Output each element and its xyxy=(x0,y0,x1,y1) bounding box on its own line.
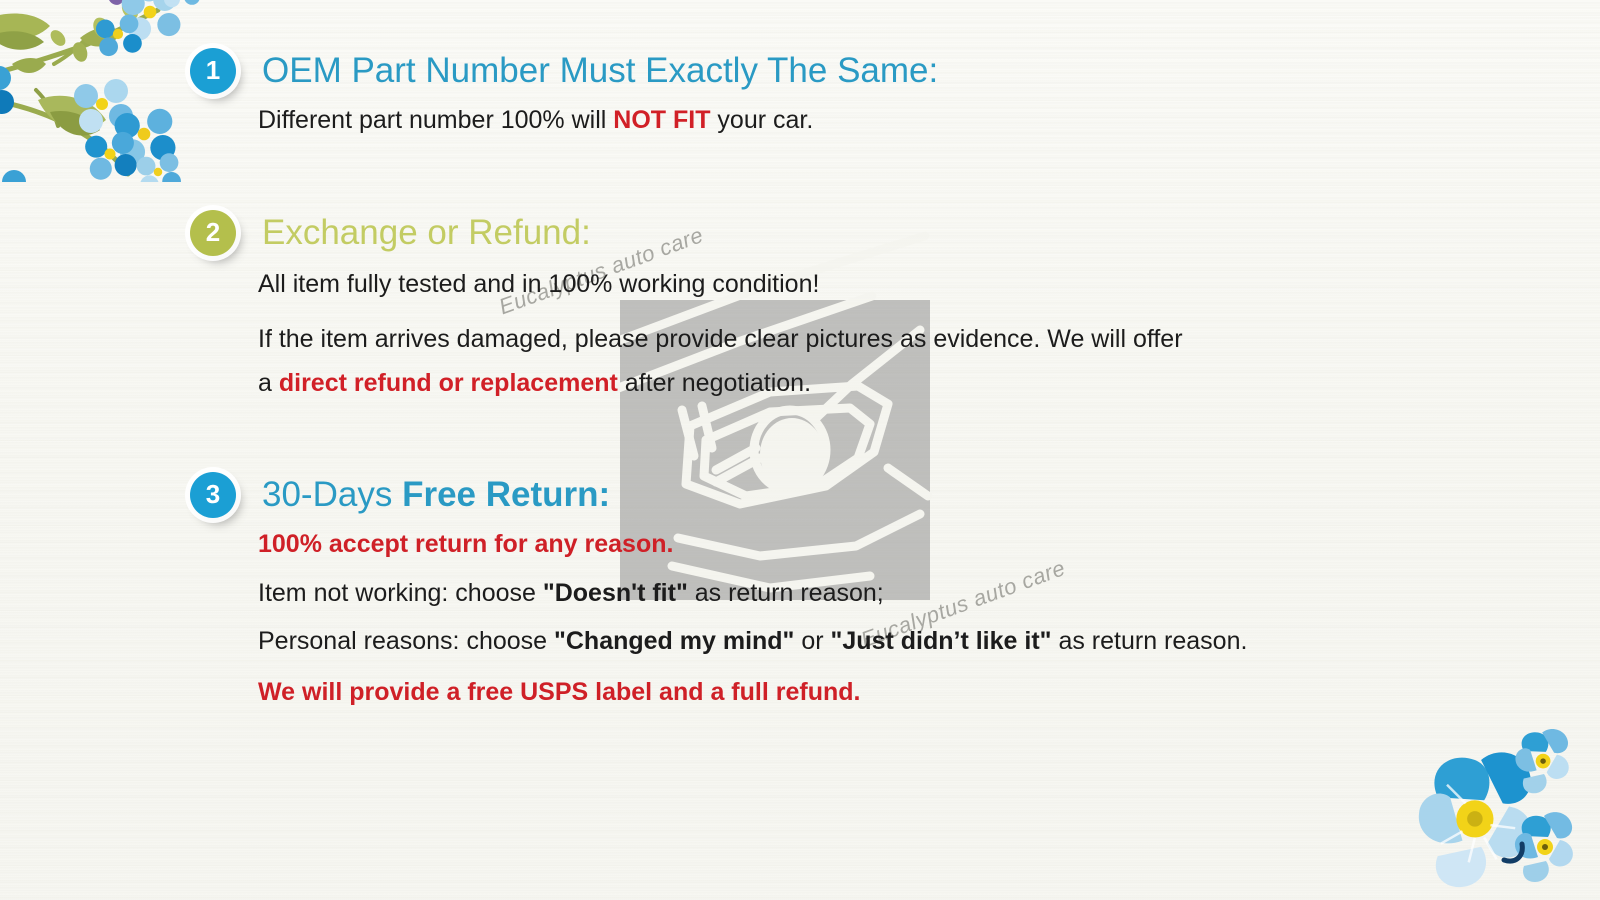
section-2-line-2: If the item arrives damaged, please prov… xyxy=(258,321,1388,358)
s1-text-c: your car. xyxy=(710,106,813,134)
section-3-heading: 30-Days Free Return: xyxy=(262,477,610,514)
section-3-line-4: We will provide a free USPS label and a … xyxy=(258,674,1450,711)
section-3-heading-plain: 30-Days xyxy=(262,475,402,514)
section-1-header: 1 OEM Part Number Must Exactly The Same: xyxy=(190,42,1450,100)
section-2-line-1: All item fully tested and in 100% workin… xyxy=(258,266,1450,303)
section-1-heading: OEM Part Number Must Exactly The Same: xyxy=(262,53,938,90)
s2-refund-emphasis: direct refund or replacement xyxy=(279,369,618,397)
s1-not-fit: NOT FIT xyxy=(613,106,710,134)
section-3-line-2: Item not working: choose "Doesn't fit" a… xyxy=(258,575,1450,612)
step-badge-3-number: 3 xyxy=(206,481,220,507)
s3-l3-e: as return reason. xyxy=(1052,627,1248,655)
s3-l2-c: as return reason; xyxy=(688,579,884,607)
step-badge-2: 2 xyxy=(190,210,236,256)
s3-l3-c: or xyxy=(794,627,830,655)
section-2-heading: Exchange or Refund: xyxy=(262,215,591,252)
s3-changed-my-mind: "Changed my mind" xyxy=(554,627,794,655)
step-badge-1: 1 xyxy=(190,48,236,94)
s3-l2-a: Item not working: choose xyxy=(258,579,543,607)
section-1-body: Different part number 100% will NOT FIT … xyxy=(190,102,1450,139)
section-2-line-3: a direct refund or replacement after neg… xyxy=(258,365,1450,402)
section-3-line-1: 100% accept return for any reason. xyxy=(258,526,1450,563)
policy-section-1: 1 OEM Part Number Must Exactly The Same:… xyxy=(190,42,1450,145)
step-badge-2-number: 2 xyxy=(206,219,220,245)
section-3-heading-strong: Free Return: xyxy=(402,475,610,514)
section-2-header: 2 Exchange or Refund: xyxy=(190,204,1450,262)
section-3-body: 100% accept return for any reason. Item … xyxy=(190,526,1450,710)
policy-section-3: 3 30-Days Free Return: 100% accept retur… xyxy=(190,466,1450,716)
step-badge-3: 3 xyxy=(190,472,236,518)
section-1-line-1: Different part number 100% will NOT FIT … xyxy=(258,102,1450,139)
s2-text-c: after negotiation. xyxy=(618,369,811,397)
s3-didnt-like-it: "Just didn’t like it" xyxy=(831,627,1052,655)
policy-section-2: 2 Exchange or Refund: All item fully tes… xyxy=(190,204,1450,408)
section-2-body: All item fully tested and in 100% workin… xyxy=(190,266,1450,402)
section-3-header: 3 30-Days Free Return: xyxy=(190,466,1450,524)
policy-content: 1 OEM Part Number Must Exactly The Same:… xyxy=(0,0,1600,900)
policy-banner: Eucalyptus auto care Eucalyptus auto car… xyxy=(0,0,1600,900)
step-badge-1-number: 1 xyxy=(206,57,220,83)
s2-text-a: a xyxy=(258,369,279,397)
s1-text-a: Different part number 100% will xyxy=(258,106,613,134)
s3-doesnt-fit: "Doesn't fit" xyxy=(543,579,688,607)
section-3-line-3: Personal reasons: choose "Changed my min… xyxy=(258,623,1450,660)
s3-l3-a: Personal reasons: choose xyxy=(258,627,554,655)
